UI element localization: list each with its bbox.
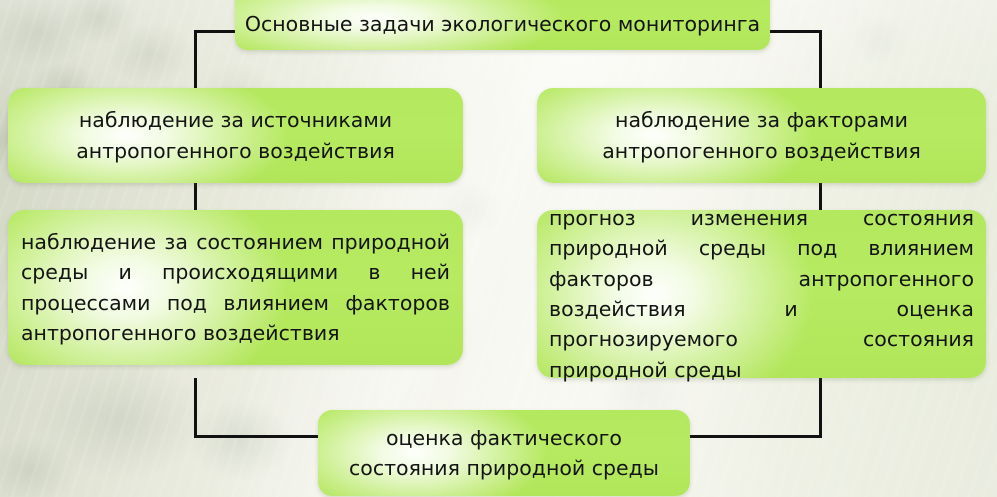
connector-root-left-vertical — [194, 30, 197, 90]
diagram-node-forecast[interactable]: прогноз изменения состояния природной ср… — [537, 210, 986, 378]
connector-bottom-right-horizontal — [684, 435, 822, 438]
diagram-node-factors[interactable]: наблюдение за факторами антропогенного в… — [537, 88, 986, 183]
diagram-node-root-label: Основные задачи экологического мониторин… — [235, 0, 770, 39]
connector-left-column-vertical — [194, 182, 197, 212]
connector-root-right-vertical — [819, 30, 822, 90]
connector-bottom-right-vertical — [819, 378, 822, 438]
diagram-node-root[interactable]: Основные задачи экологического мониторин… — [235, 0, 770, 50]
connector-bottom-left-vertical — [194, 378, 197, 438]
connector-bottom-left-horizontal — [194, 435, 324, 438]
diagram-node-state-label: наблюдение за состоянием природной среды… — [8, 227, 463, 348]
slide-canvas: Основные задачи экологического мониторин… — [0, 0, 997, 497]
diagram-node-factors-label: наблюдение за факторами антропогенного в… — [537, 105, 986, 166]
diagram-node-sources-label: наблюдение за источниками антропогенного… — [8, 105, 463, 166]
connector-root-right-horizontal — [762, 30, 822, 33]
diagram-node-actual-assessment-label: оценка фактического состояния природной … — [318, 423, 690, 484]
diagram-node-state[interactable]: наблюдение за состоянием природной среды… — [8, 210, 463, 365]
diagram-node-sources[interactable]: наблюдение за источниками антропогенного… — [8, 88, 463, 183]
diagram-node-forecast-label: прогноз изменения состояния природной ср… — [537, 203, 986, 385]
diagram-node-actual-assessment[interactable]: оценка фактического состояния природной … — [318, 410, 690, 496]
